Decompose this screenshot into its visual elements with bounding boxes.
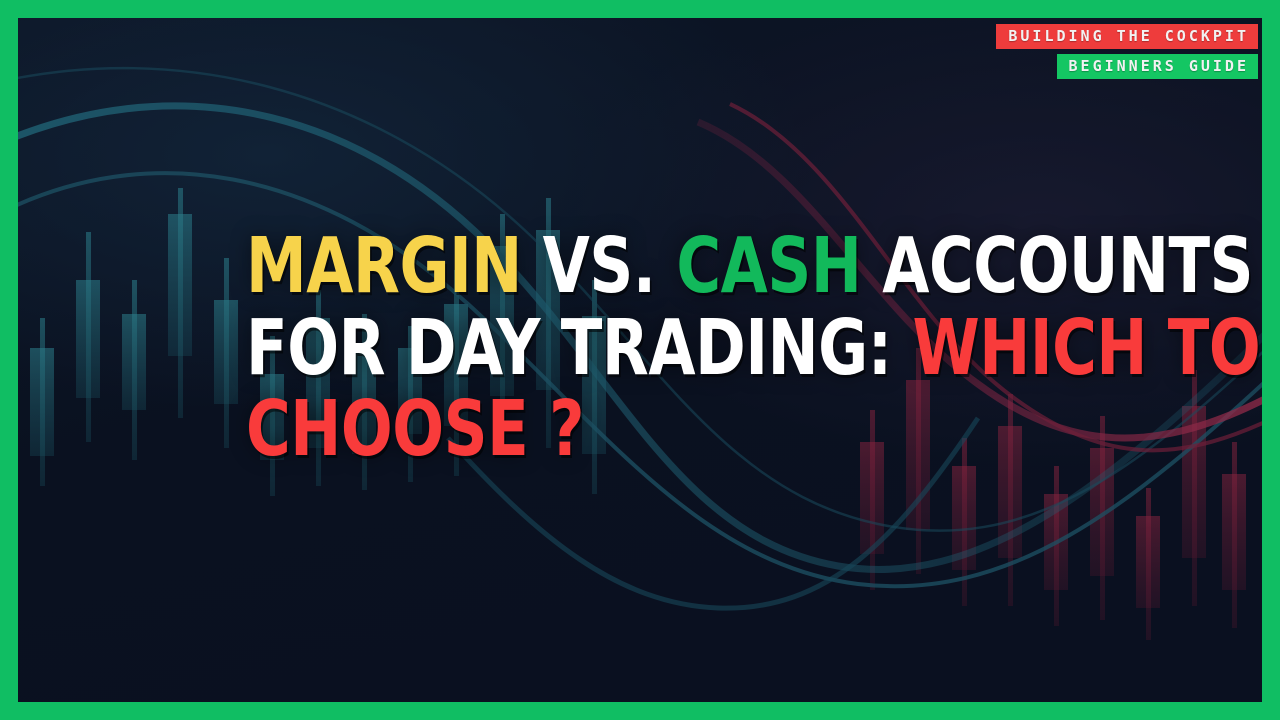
thumbnail-root: BUILDING THE COCKPIT BEGINNERS GUIDE MAR… — [0, 0, 1280, 720]
headline-word-cash: CASH — [676, 222, 861, 311]
headline-word-accounts: ACCOUNTS — [861, 222, 1253, 311]
headline-block: MARGIN VS. CASH ACCOUNTS FOR DAY TRADING… — [246, 230, 1046, 468]
headline-phrase-for-day-trading: FOR DAY TRADING: — [246, 304, 912, 393]
headline-line-3: CHOOSE ? — [246, 393, 950, 468]
badge-building-the-cockpit: BUILDING THE COCKPIT — [996, 24, 1258, 49]
headline-phrase-choose: CHOOSE ? — [246, 385, 584, 474]
headline-phrase-which-to: WHICH TO — [912, 304, 1260, 393]
headline-line-2: FOR DAY TRADING: WHICH TO — [246, 312, 950, 387]
badge-stack: BUILDING THE COCKPIT BEGINNERS GUIDE — [996, 24, 1258, 79]
headline-word-margin: MARGIN — [246, 222, 522, 311]
badge-beginners-guide: BEGINNERS GUIDE — [1057, 54, 1258, 79]
headline-word-vs: VS. — [522, 222, 676, 311]
thumbnail-canvas: BUILDING THE COCKPIT BEGINNERS GUIDE MAR… — [18, 18, 1262, 702]
headline-line-1: MARGIN VS. CASH ACCOUNTS — [246, 230, 950, 305]
